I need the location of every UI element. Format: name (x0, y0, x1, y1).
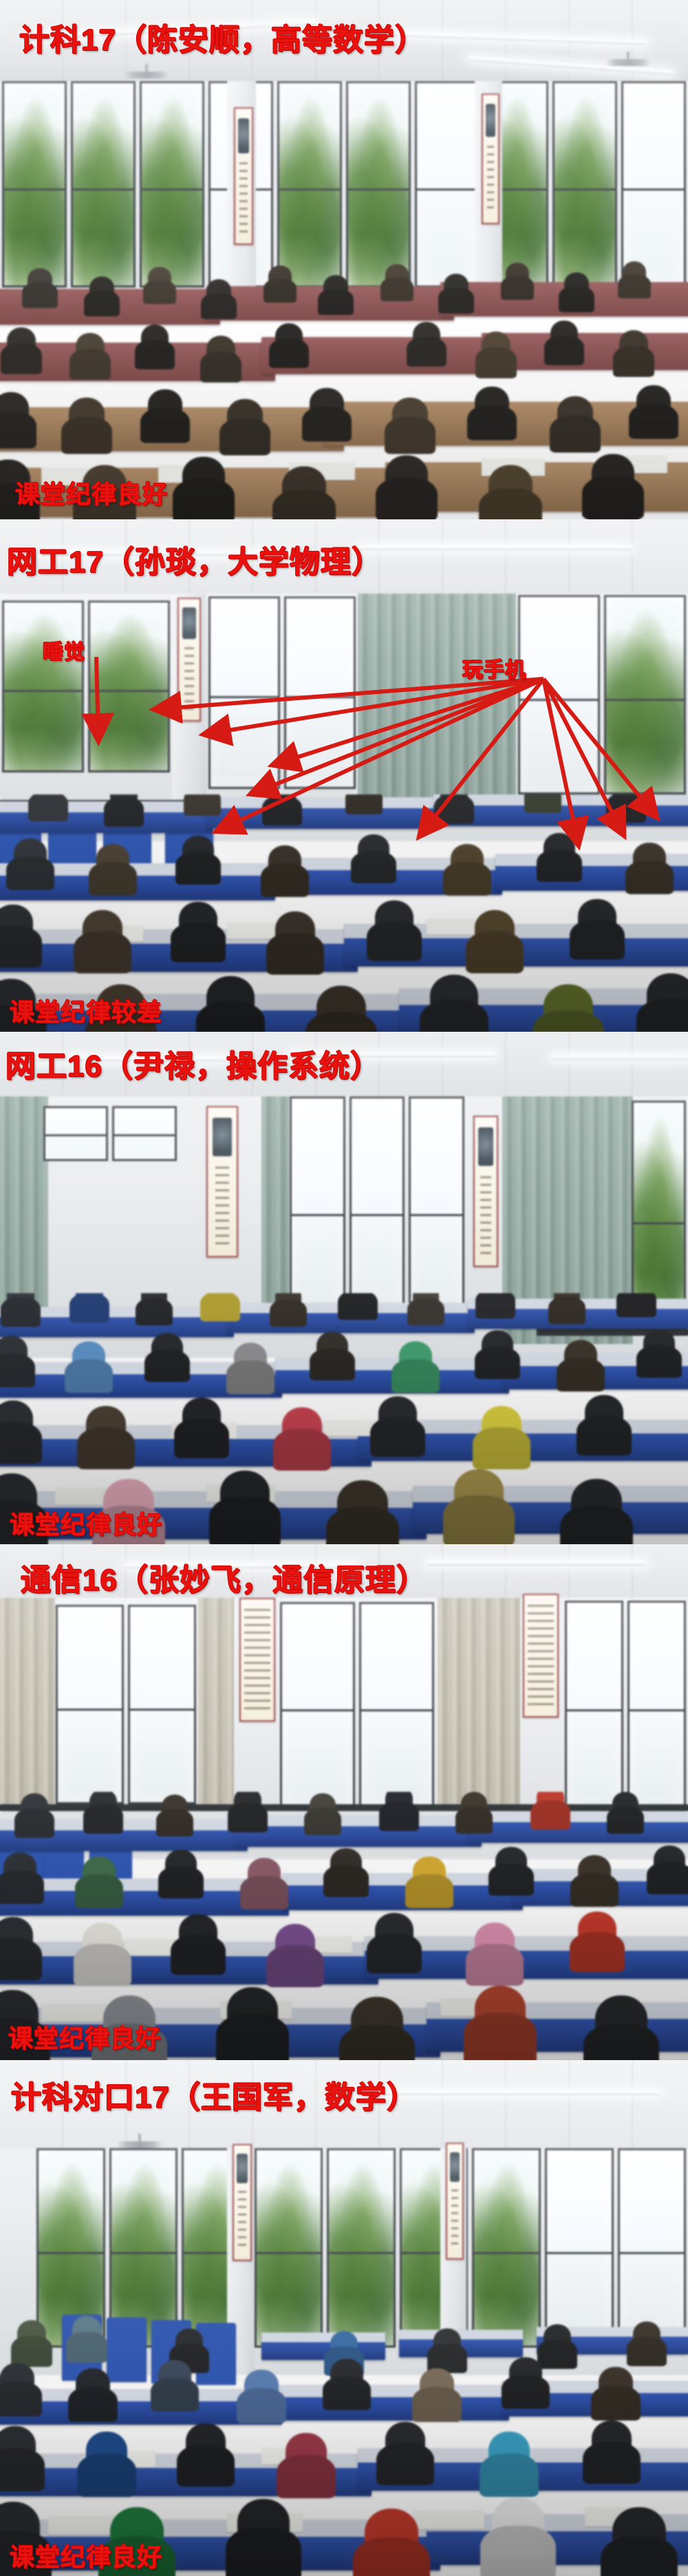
annotation-label-sleeping: 睡觉 (43, 635, 85, 665)
classroom-scene-1 (0, 0, 688, 519)
photo-block-2: 睡觉 玩手机 网工17（孙琰，大学物理） 课堂纪律较差 (0, 519, 688, 1032)
photo-status-caption-5: 课堂纪律良好 (10, 2537, 162, 2573)
photo-report-page: 计科17（陈安顺，高等数学） 课堂纪律良好 (0, 0, 688, 2576)
photo-block-3: 网工16（尹禄，操作系统） 课堂纪律良好 (0, 1032, 688, 1544)
photo-title-4: 通信16（张妙飞，通信原理） (21, 1555, 427, 1599)
photo-status-caption-1: 课堂纪律良好 (15, 475, 168, 510)
classroom-scene-4 (0, 1544, 688, 2060)
photo-status-caption-3: 课堂纪律良好 (10, 1505, 162, 1541)
photo-status-caption-4: 课堂纪律良好 (8, 2019, 161, 2055)
photo-status-caption-2: 课堂纪律较差 (10, 993, 162, 1028)
annotation-label-phone: 玩手机 (462, 653, 526, 683)
classroom-scene-5 (0, 2060, 688, 2576)
photo-block-5: 计科对口17（王国军，数学） 课堂纪律良好 (0, 2060, 688, 2576)
photo-block-4: 通信16（张妙飞，通信原理） 课堂纪律良好 (0, 1544, 688, 2060)
classroom-scene-3 (0, 1032, 688, 1544)
photo-title-1: 计科17（陈安顺，高等数学） (19, 15, 426, 59)
photo-title-2: 网工17（孙琰，大学物理） (7, 537, 383, 581)
photo-block-1: 计科17（陈安顺，高等数学） 课堂纪律良好 (0, 0, 688, 519)
photo-title-3: 网工16（尹禄，操作系统） (6, 1041, 381, 1085)
classroom-scene-2 (0, 519, 688, 1032)
photo-title-5: 计科对口17（王国军，数学） (11, 2072, 418, 2117)
